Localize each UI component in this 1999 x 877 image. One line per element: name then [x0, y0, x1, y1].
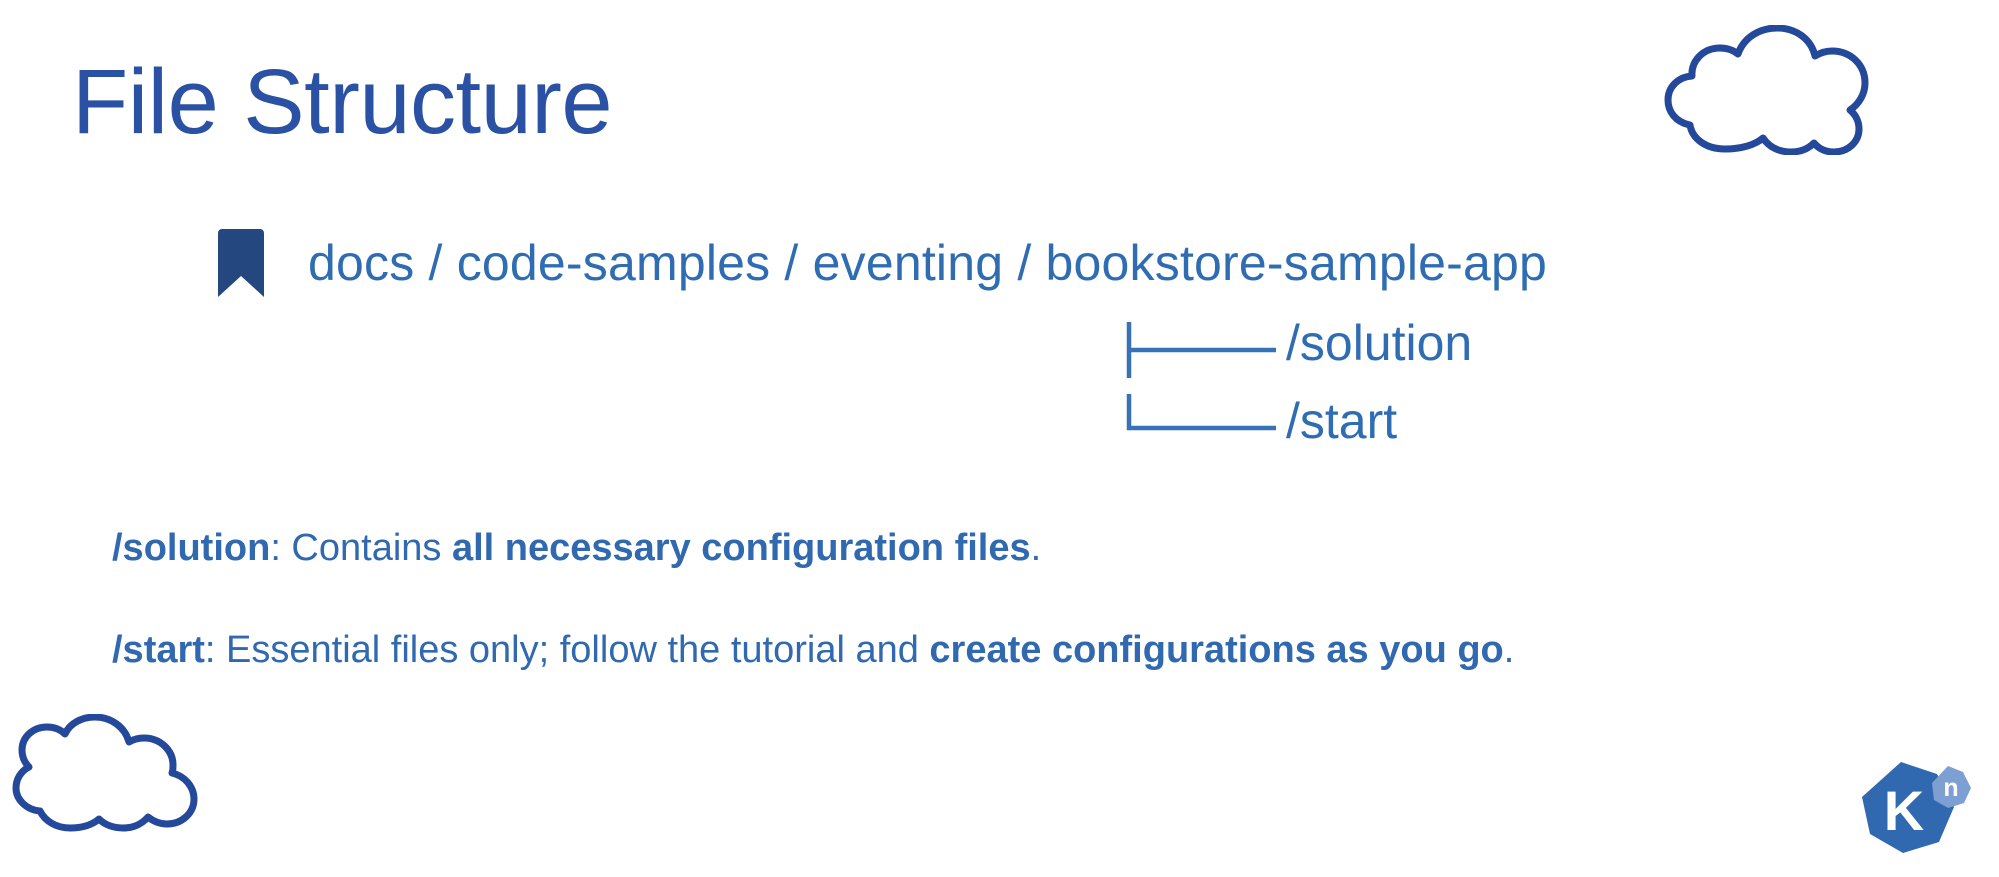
file-path-block: docs / code-samples / eventing / booksto… [218, 226, 1547, 300]
body-seg-3: . [1504, 629, 1515, 671]
slide-canvas: File Structure docs / code-samples / eve… [0, 0, 1999, 877]
tree-label-solution: /solution [1286, 316, 1472, 371]
knative-secondary-heptagon: n [1932, 766, 1971, 808]
file-path-row: docs / code-samples / eventing / booksto… [218, 226, 1547, 300]
tree-label-start: /start [1286, 394, 1397, 449]
tree-connector-elbow-icon [1126, 394, 1281, 472]
body-seg-2: create configurations as you go [929, 629, 1503, 671]
cloud-icon-top-right [1663, 25, 1873, 155]
body-line-solution: /solution: Contains all necessary config… [112, 526, 1041, 572]
body-seg-3: . [1031, 527, 1042, 569]
knative-logo-letter-k: K [1884, 779, 1924, 842]
knative-logo-letter-n: n [1943, 774, 1958, 802]
knative-logo: K n [1853, 758, 1973, 863]
page-title: File Structure [72, 54, 612, 151]
bookmark-icon [218, 229, 264, 297]
body-seg-1: : Essential files only; follow the tutor… [205, 629, 930, 671]
body-seg-0: /solution [112, 527, 270, 569]
cloud-icon-bottom-left [10, 714, 200, 834]
tree-connector-tee-icon [1126, 316, 1281, 394]
body-seg-2: all necessary configuration files [452, 527, 1031, 569]
body-seg-0: /start [112, 629, 205, 671]
file-path-text: docs / code-samples / eventing / booksto… [308, 238, 1547, 288]
body-seg-1: : Contains [270, 527, 452, 569]
body-line-start: /start: Essential files only; follow the… [112, 628, 1514, 674]
